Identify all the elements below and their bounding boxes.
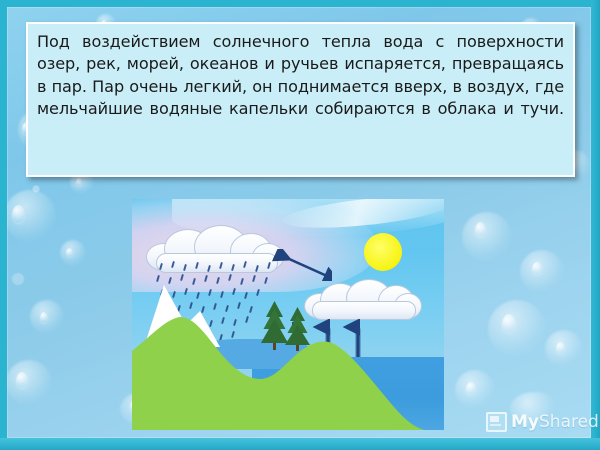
watermark-label: MyShared	[511, 412, 599, 432]
presentation-icon	[486, 412, 507, 432]
water-cycle-illustration	[132, 199, 444, 430]
slide-body-text: Под воздействием солнечного тепла вода с…	[37, 31, 564, 142]
sun-icon	[350, 219, 416, 285]
vapor-transport-arrow	[272, 249, 332, 281]
slide-frame-bottom	[0, 438, 600, 450]
pine-trees	[260, 299, 314, 351]
slide-frame-left	[0, 0, 7, 450]
watermark-prefix: My	[511, 412, 539, 432]
myshared-watermark: MyShared	[486, 412, 599, 432]
presentation-slide: Под воздействием солнечного тепла вода с…	[0, 0, 600, 450]
slide-frame-right	[591, 0, 600, 450]
slide-frame-top	[0, 0, 600, 7]
watermark-suffix: Shared	[539, 412, 599, 432]
text-content-box: Под воздействием солнечного тепла вода с…	[26, 22, 575, 177]
